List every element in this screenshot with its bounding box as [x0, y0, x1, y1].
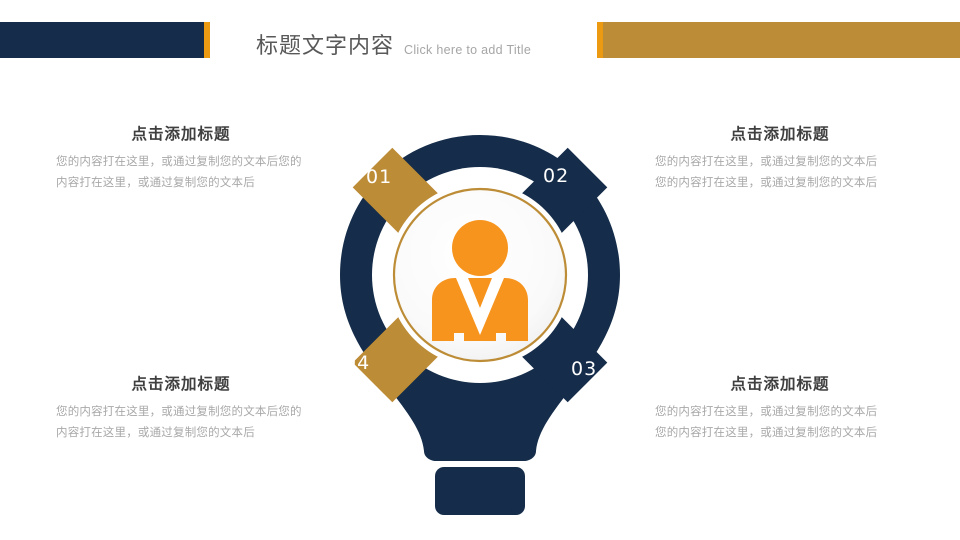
text-block-bottom-left: 点击添加标题 您的内容打在这里，或通过复制您的文本后您的内容打在这里，或通过复制… — [56, 372, 306, 444]
blade-number-01[interactable]: 01 — [366, 166, 392, 188]
block-heading[interactable]: 点击添加标题 — [56, 372, 306, 394]
header-navy-accent-strip — [204, 22, 210, 58]
slide-canvas: 标题文字内容 Click here to add Title — [0, 0, 960, 540]
text-block-bottom-right: 点击添加标题 您的内容打在这里，或通过复制您的文本后您的内容打在这里，或通过复制… — [655, 372, 905, 444]
block-body[interactable]: 您的内容打在这里，或通过复制您的文本后您的内容打在这里，或通过复制您的文本后 — [655, 401, 883, 444]
lightbulb-infographic — [280, 95, 680, 515]
blade-number-03[interactable]: 03 — [571, 358, 597, 380]
header-title-group: 标题文字内容 Click here to add Title — [256, 22, 531, 58]
page-title[interactable]: 标题文字内容 — [256, 36, 394, 58]
block-heading[interactable]: 点击添加标题 — [56, 122, 306, 144]
bulb-base-tip — [448, 507, 512, 515]
block-heading[interactable]: 点击添加标题 — [655, 122, 905, 144]
block-body[interactable]: 您的内容打在这里，或通过复制您的文本后您的内容打在这里，或通过复制您的文本后 — [56, 151, 306, 194]
blade-number-04[interactable]: 04 — [344, 352, 370, 374]
text-block-top-right: 点击添加标题 您的内容打在这里，或通过复制您的文本后您的内容打在这里，或通过复制… — [655, 122, 905, 194]
block-body[interactable]: 您的内容打在这里，或通过复制您的文本后您的内容打在这里，或通过复制您的文本后 — [655, 151, 883, 194]
block-heading[interactable]: 点击添加标题 — [655, 372, 905, 394]
block-body[interactable]: 您的内容打在这里，或通过复制您的文本后您的内容打在这里，或通过复制您的文本后 — [56, 401, 306, 444]
page-subtitle[interactable]: Click here to add Title — [404, 44, 531, 59]
header-gold-bar — [603, 22, 960, 58]
header-navy-bar — [0, 22, 204, 58]
text-block-top-left: 点击添加标题 您的内容打在这里，或通过复制您的文本后您的内容打在这里，或通过复制… — [56, 122, 306, 194]
blade-number-02[interactable]: 02 — [543, 165, 569, 187]
